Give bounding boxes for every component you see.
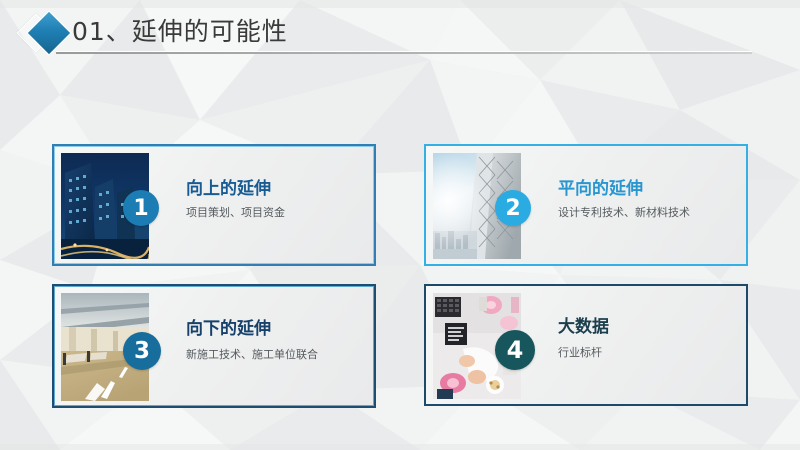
slide-canvas: 01、延伸的可能性	[0, 0, 800, 450]
card-1[interactable]: 1 向上的延伸 项目策划、项目资金	[52, 144, 376, 266]
card-number-badge: 1	[123, 190, 159, 226]
slide-header: 01、延伸的可能性	[0, 0, 800, 62]
card-subtitle: 设计专利技术、新材料技术	[558, 204, 690, 220]
page-title: 01、延伸的可能性	[72, 12, 288, 48]
card-number-badge: 4	[495, 330, 535, 370]
card-title: 大数据	[558, 312, 609, 337]
title-divider	[56, 51, 752, 54]
card-title: 向上的延伸	[186, 174, 271, 199]
card-number-badge: 3	[123, 332, 161, 370]
card-title: 向下的延伸	[186, 314, 271, 339]
card-subtitle: 项目策划、项目资金	[186, 204, 285, 220]
card-4[interactable]: 4 大数据 行业标杆	[424, 284, 748, 406]
card-number-badge: 2	[495, 190, 531, 226]
card-subtitle: 行业标杆	[558, 344, 602, 360]
card-3[interactable]: 3 向下的延伸 新施工技术、施工单位联合	[52, 284, 376, 408]
card-subtitle: 新施工技术、施工单位联合	[186, 346, 318, 362]
card-title: 平向的延伸	[558, 174, 643, 199]
card-2[interactable]: 2 平向的延伸 设计专利技术、新材料技术	[424, 144, 748, 266]
diamond-icon	[22, 14, 78, 54]
